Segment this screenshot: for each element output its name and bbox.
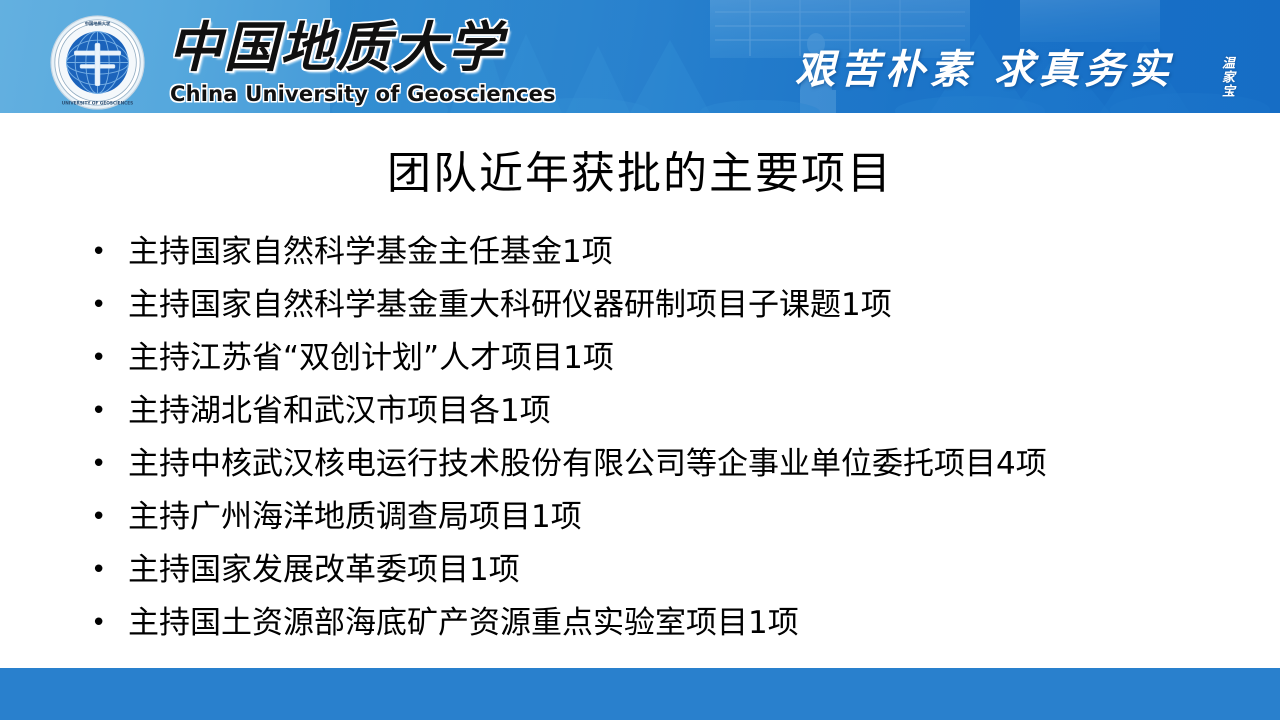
list-item: • 主持国家发展改革委项目1项 — [80, 546, 1260, 599]
bullet-marker-icon: • — [80, 546, 128, 595]
svg-text:中国地质大学: 中国地质大学 — [85, 20, 111, 27]
list-item-label: 主持中核武汉核电运行技术股份有限公司等企事业单位委托项目4项 — [128, 440, 1260, 489]
bullet-marker-icon: • — [80, 387, 128, 436]
university-name-chinese: 中国地质大学 — [168, 16, 498, 78]
list-item-label: 主持广州海洋地质调查局项目1项 — [128, 493, 1260, 542]
page-title: 团队近年获批的主要项目 — [0, 146, 1280, 202]
header-banner: 中国地质大学 UNIVERSITY OF GEOSCIENCES 中国地质大学 … — [0, 0, 1280, 113]
project-bullet-list: • 主持国家自然科学基金主任基金1项 • 主持国家自然科学基金重大科研仪器研制项… — [80, 228, 1260, 652]
bullet-marker-icon: • — [80, 281, 128, 330]
list-item: • 主持湖北省和武汉市项目各1项 — [80, 387, 1260, 440]
bullet-marker-icon: • — [80, 440, 128, 489]
list-item-label: 主持国家自然科学基金重大科研仪器研制项目子课题1项 — [128, 281, 1260, 330]
university-motto: 艰苦朴素 求真务实 — [795, 48, 1174, 92]
presentation-slide: 中国地质大学 UNIVERSITY OF GEOSCIENCES 中国地质大学 … — [0, 0, 1280, 720]
motto-signature: 温家宝 — [1207, 56, 1233, 98]
bullet-marker-icon: • — [80, 599, 128, 648]
list-item-label: 主持湖北省和武汉市项目各1项 — [128, 387, 1260, 436]
bullet-marker-icon: • — [80, 334, 128, 383]
bullet-marker-icon: • — [80, 493, 128, 542]
list-item: • 主持中核武汉核电运行技术股份有限公司等企事业单位委托项目4项 — [80, 440, 1260, 493]
svg-text:UNIVERSITY OF GEOSCIENCES: UNIVERSITY OF GEOSCIENCES — [62, 101, 133, 107]
list-item: • 主持广州海洋地质调查局项目1项 — [80, 493, 1260, 546]
university-seal-emblem: 中国地质大学 UNIVERSITY OF GEOSCIENCES — [49, 14, 146, 111]
footer-bar — [0, 668, 1280, 720]
list-item: • 主持国土资源部海底矿产资源重点实验室项目1项 — [80, 599, 1260, 652]
bullet-marker-icon: • — [80, 228, 128, 277]
list-item: • 主持江苏省“双创计划”人才项目1项 — [80, 334, 1260, 387]
list-item-label: 主持江苏省“双创计划”人才项目1项 — [128, 334, 1260, 383]
list-item-label: 主持国土资源部海底矿产资源重点实验室项目1项 — [128, 599, 1260, 648]
list-item-label: 主持国家自然科学基金主任基金1项 — [128, 228, 1260, 277]
list-item: • 主持国家自然科学基金主任基金1项 — [80, 228, 1260, 281]
list-item-label: 主持国家发展改革委项目1项 — [128, 546, 1260, 595]
university-name-english: China University of Geosciences — [170, 82, 556, 106]
list-item: • 主持国家自然科学基金重大科研仪器研制项目子课题1项 — [80, 281, 1260, 334]
